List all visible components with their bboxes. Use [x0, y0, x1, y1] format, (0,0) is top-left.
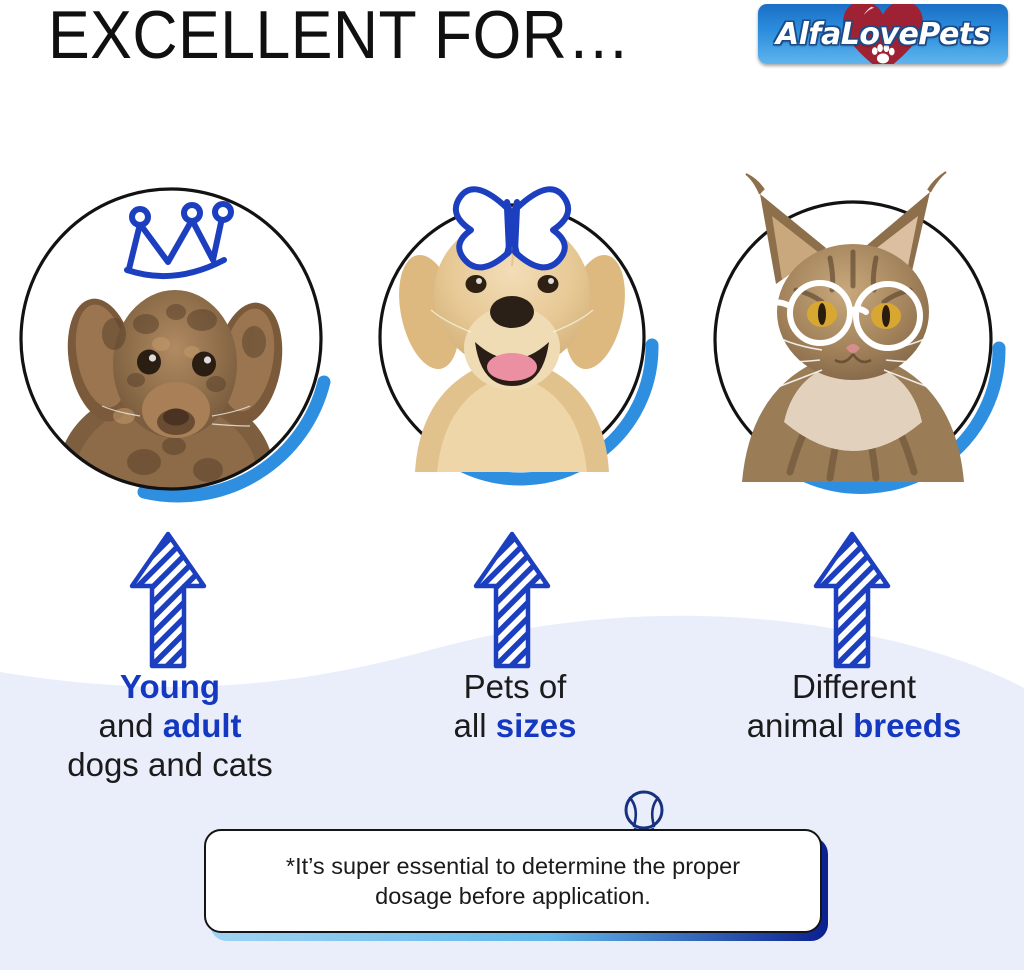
footnote-line-1: *It’s super essential to determine the p…: [286, 851, 740, 881]
maine-coon-cat-photo: [742, 172, 964, 482]
caption-different-breeds: Different animal breeds: [684, 668, 1024, 746]
caption-all-sizes: Pets of all sizes: [345, 668, 685, 746]
pet-circles-row: [0, 100, 1024, 520]
caption-line-3-plain: dogs and cats: [67, 746, 272, 783]
caption-line-1-bold: Young: [120, 668, 220, 705]
up-arrow-icon-3: [812, 530, 892, 670]
caption-line-2-plain: all: [454, 707, 496, 744]
brand-logo[interactable]: AlfaLovePets: [758, 4, 1008, 64]
caption-line-2-plain: animal: [747, 707, 853, 744]
footnote-box: *It’s super essential to determine the p…: [204, 829, 822, 933]
pet-card-young-adult: [0, 100, 341, 520]
captions-row: Young and adult dogs and cats Pets of al…: [0, 668, 1024, 798]
arrows-row: [0, 530, 1024, 670]
brand-name: AlfaLovePets: [758, 4, 1008, 64]
caption-line-1-plain: Different: [792, 668, 916, 705]
footnote-callout: *It’s super essential to determine the p…: [204, 829, 822, 933]
up-arrow-icon-1: [128, 530, 208, 670]
golden-retriever-photo: [389, 218, 634, 472]
pet-circle-1: [16, 184, 326, 494]
caption-young-adult: Young and adult dogs and cats: [0, 668, 340, 785]
caption-line-1-plain: Pets of: [464, 668, 567, 705]
caption-line-2-bold: sizes: [496, 707, 577, 744]
pet-card-different-breeds: [682, 100, 1023, 520]
footnote-text: *It’s super essential to determine the p…: [286, 851, 740, 911]
caption-line-2-bold: adult: [163, 707, 242, 744]
caption-line-2-bold: breeds: [853, 707, 961, 744]
pet-circle-2: [357, 162, 667, 472]
caption-line-2-plain: and: [98, 707, 162, 744]
pet-circle-3: [698, 172, 1008, 482]
dachshund-puppy-photo: [16, 184, 326, 562]
pet-card-all-sizes: [341, 100, 682, 520]
page-title: EXCELLENT FOR…: [48, 0, 630, 74]
header: EXCELLENT FOR… AlfaLovePets: [0, 0, 1024, 80]
promo-page: EXCELLENT FOR… AlfaLovePets: [0, 0, 1024, 970]
footnote-line-2: dosage before application.: [286, 881, 740, 911]
up-arrow-icon-2: [472, 530, 552, 670]
